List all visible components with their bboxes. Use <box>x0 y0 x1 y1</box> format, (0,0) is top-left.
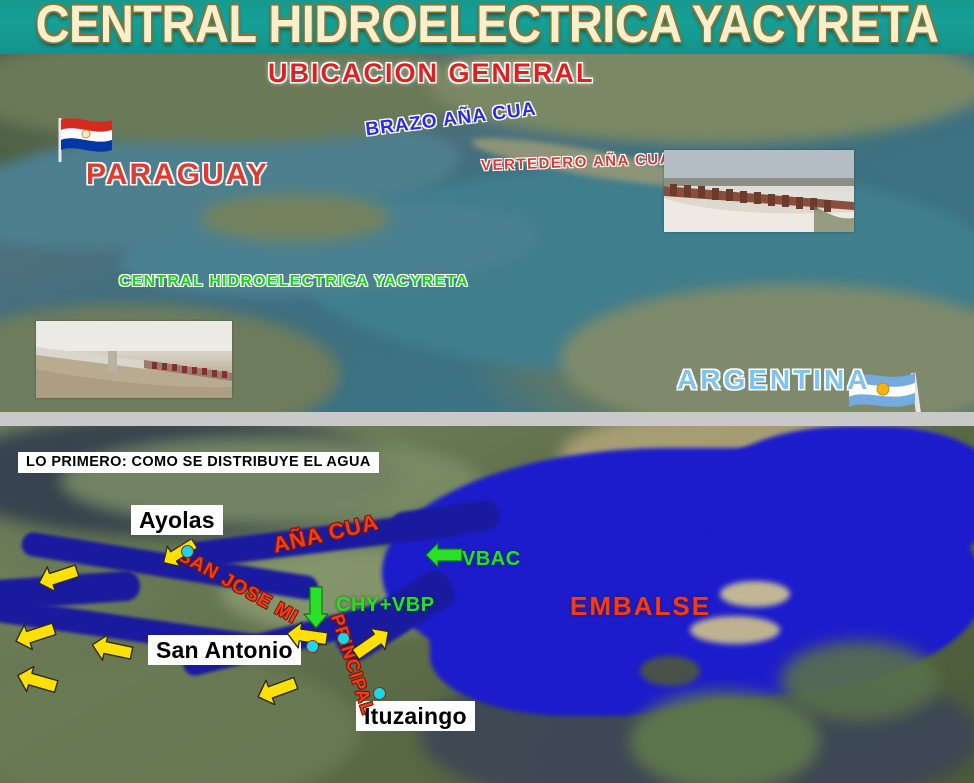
gauge-point-principal <box>337 632 350 645</box>
flow-arrow-6 <box>255 675 299 705</box>
reservoir-island-4 <box>780 641 940 721</box>
page-title: CENTRAL HIDROELECTRICA YACYRETA <box>0 0 974 54</box>
flow-arrow-5 <box>90 634 134 664</box>
gauge-point-ituzaingo <box>373 687 386 700</box>
gauge-point-san-jose <box>306 640 319 653</box>
water-distribution-map: LO PRIMERO: COMO SE DISTRIBUYE EL AGUA A… <box>0 426 974 783</box>
city-label-ayolas: Ayolas <box>131 505 223 535</box>
flow-arrow-4 <box>15 666 59 696</box>
city-label-san-antonio: San Antonio <box>148 635 301 665</box>
panel-heading-ubicacion: UBICACION GENERAL <box>268 58 595 89</box>
discharge-label-chy-vbp: CHY+VBP <box>336 594 435 617</box>
satellite-overview-map: UBICACION GENERAL PARAGUAY ARGENTINA BRA… <box>0 54 974 412</box>
slide-root: CENTRAL HIDROELECTRICA YACYRETA <box>0 0 974 783</box>
reservoir-island-2 <box>720 581 790 607</box>
reservoir-label-embalse: EMBALSE <box>570 591 711 622</box>
flow-arrow-2 <box>36 562 80 592</box>
inset-photo-powerhouse <box>36 321 232 398</box>
panel-divider <box>0 412 974 426</box>
inset-photo-spillway <box>664 150 854 232</box>
reservoir-island-3 <box>640 656 700 686</box>
flow-arrow-3 <box>13 620 57 650</box>
reservoir-peninsula-south <box>630 691 820 783</box>
panel-heading-distribucion: LO PRIMERO: COMO SE DISTRIBUYE EL AGUA <box>18 452 379 473</box>
label-paraguay: PARAGUAY <box>86 158 269 192</box>
paraguay-flag <box>56 112 118 164</box>
gauge-point-ayolas <box>181 545 194 558</box>
discharge-arrow-vbac <box>424 542 464 568</box>
title-banner: CENTRAL HIDROELECTRICA YACYRETA <box>0 0 974 54</box>
discharge-label-vbac: VBAC <box>462 548 521 571</box>
label-central-hidroelectrica: CENTRAL HIDROELECTRICA YACYRETA <box>119 273 469 291</box>
label-argentina: ARGENTINA <box>677 364 870 396</box>
island-mid <box>200 194 390 242</box>
flow-arrow-8 <box>350 626 394 660</box>
